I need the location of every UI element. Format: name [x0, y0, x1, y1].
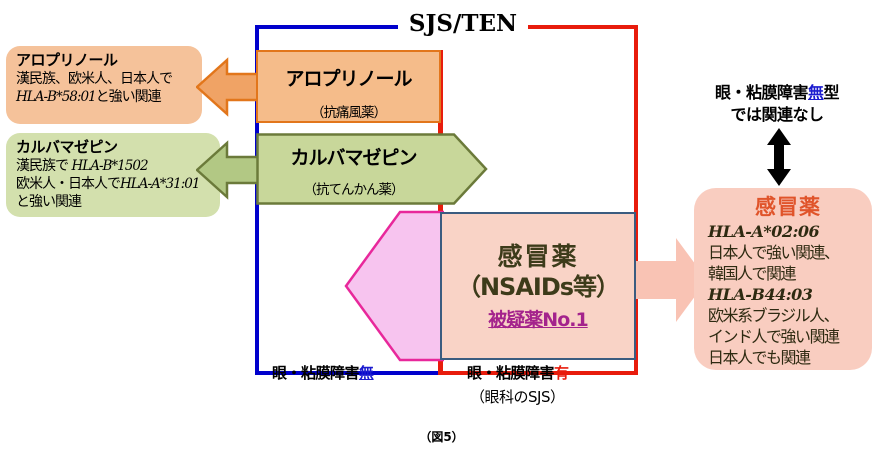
- page-title: SJS/TEN: [398, 10, 528, 37]
- label-left-pre: 眼・粘膜障害: [272, 364, 359, 382]
- box-allopurinol: アロプリノール （抗痛風薬）: [256, 50, 441, 123]
- note-line1-pre: 眼・粘膜障害: [715, 83, 808, 102]
- box-carbamazepine: カルバマゼピン （抗てんかん薬）: [256, 133, 488, 205]
- blue-bracket-top: [255, 25, 398, 29]
- callout-carbamazepine: カルバマゼピン 漢民族で HLA-B*1502 欧米人・日本人でHLA-A*31…: [6, 133, 220, 217]
- label-no-ocular-involvement: 眼・粘膜障害無: [272, 362, 374, 383]
- red-bracket-top: [528, 25, 638, 29]
- callout-allopurinol-line1: 漢民族、欧米人、日本人で: [16, 70, 194, 88]
- right-box-allele-hla-a-0206: HLA-A*02:06: [708, 221, 868, 242]
- carbamazepine-line2-pre: 欧米人・日本人で: [16, 176, 120, 192]
- callout-allopurinol: アロプリノール 漢民族、欧米人、日本人で HLA-B*58:01と強い関連: [6, 46, 202, 124]
- allele-hla-a-3101: HLA-A*31:01: [120, 176, 199, 192]
- note-line1: 眼・粘膜障害無型: [672, 82, 882, 104]
- box-right-cold-medicine-alleles: 感冒薬 HLA-A*02:06 日本人で強い関連、 韓国人で関連 HLA-B44…: [694, 188, 872, 370]
- main-box-line2: （NSAIDs等）: [457, 272, 619, 302]
- note-no-association: 眼・粘膜障害無型 では関連なし: [672, 82, 882, 126]
- carbamazepine-line1-pre: 漢民族で: [16, 158, 71, 174]
- right-box-title: 感冒薬: [708, 194, 868, 220]
- note-line2: では関連なし: [672, 104, 882, 126]
- callout-carbamazepine-line2: 欧米人・日本人でHLA-A*31:01: [16, 175, 212, 193]
- note-line1-post: 型: [824, 83, 840, 102]
- callout-allopurinol-line2: HLA-B*58:01と強い関連: [16, 88, 194, 106]
- label-with-ocular-involvement: 眼・粘膜障害有: [467, 362, 569, 383]
- main-box-suspect-drug-no1: 被疑薬No.1: [488, 305, 587, 332]
- callout-allopurinol-tail: と強い関連: [96, 89, 161, 105]
- box-common-cold-medicine: 感冒薬 （NSAIDs等） 被疑薬No.1: [440, 212, 636, 360]
- label-ophthalmic-sjs: （眼科のSJS）: [470, 386, 564, 407]
- right-box-text4: インド人で強い関連: [708, 326, 868, 347]
- diagram-canvas: SJS/TEN アロプリノール 漢民族、欧米人、日本人で HLA-B*58:01…: [0, 0, 883, 460]
- main-box-line1: 感冒薬: [497, 241, 578, 272]
- arrow-allopurinol-to-callout: [196, 56, 262, 118]
- label-right-pre: 眼・粘膜障害: [467, 364, 554, 382]
- callout-carbamazepine-line1: 漢民族で HLA-B*1502: [16, 157, 212, 175]
- right-box-text1: 日本人で強い関連、: [708, 242, 868, 263]
- arrow-carbamazepine-to-callout: [196, 139, 262, 201]
- callout-carbamazepine-title: カルバマゼピン: [16, 138, 212, 157]
- figure-caption: （図5）: [0, 428, 883, 445]
- label-right-mark: 有: [554, 364, 569, 382]
- allele-hla-b-5801: HLA-B*58:01: [16, 89, 96, 105]
- box-carbamazepine-sub: （抗てんかん薬）: [256, 178, 451, 198]
- callout-allopurinol-title: アロプリノール: [16, 51, 194, 70]
- note-mark-none: 無: [808, 83, 824, 102]
- pink-pentagon-arrow: [344, 210, 444, 362]
- box-allopurinol-sub: （抗痛風薬）: [258, 101, 439, 121]
- box-carbamazepine-name: カルバマゼピン: [256, 133, 451, 170]
- double-headed-arrow-icon: [766, 128, 792, 186]
- right-box-text3: 欧米系ブラジル人、: [708, 305, 868, 326]
- box-allopurinol-name: アロプリノール: [258, 64, 439, 91]
- allele-hla-b-1502: HLA-B*1502: [71, 158, 147, 174]
- callout-carbamazepine-line3: と強い関連: [16, 193, 212, 211]
- label-left-mark: 無: [359, 364, 374, 382]
- right-box-allele-hla-b-4403: HLA-B44:03: [708, 284, 868, 305]
- right-box-text5: 日本人でも関連: [708, 347, 868, 368]
- right-box-text2: 韓国人で関連: [708, 263, 868, 284]
